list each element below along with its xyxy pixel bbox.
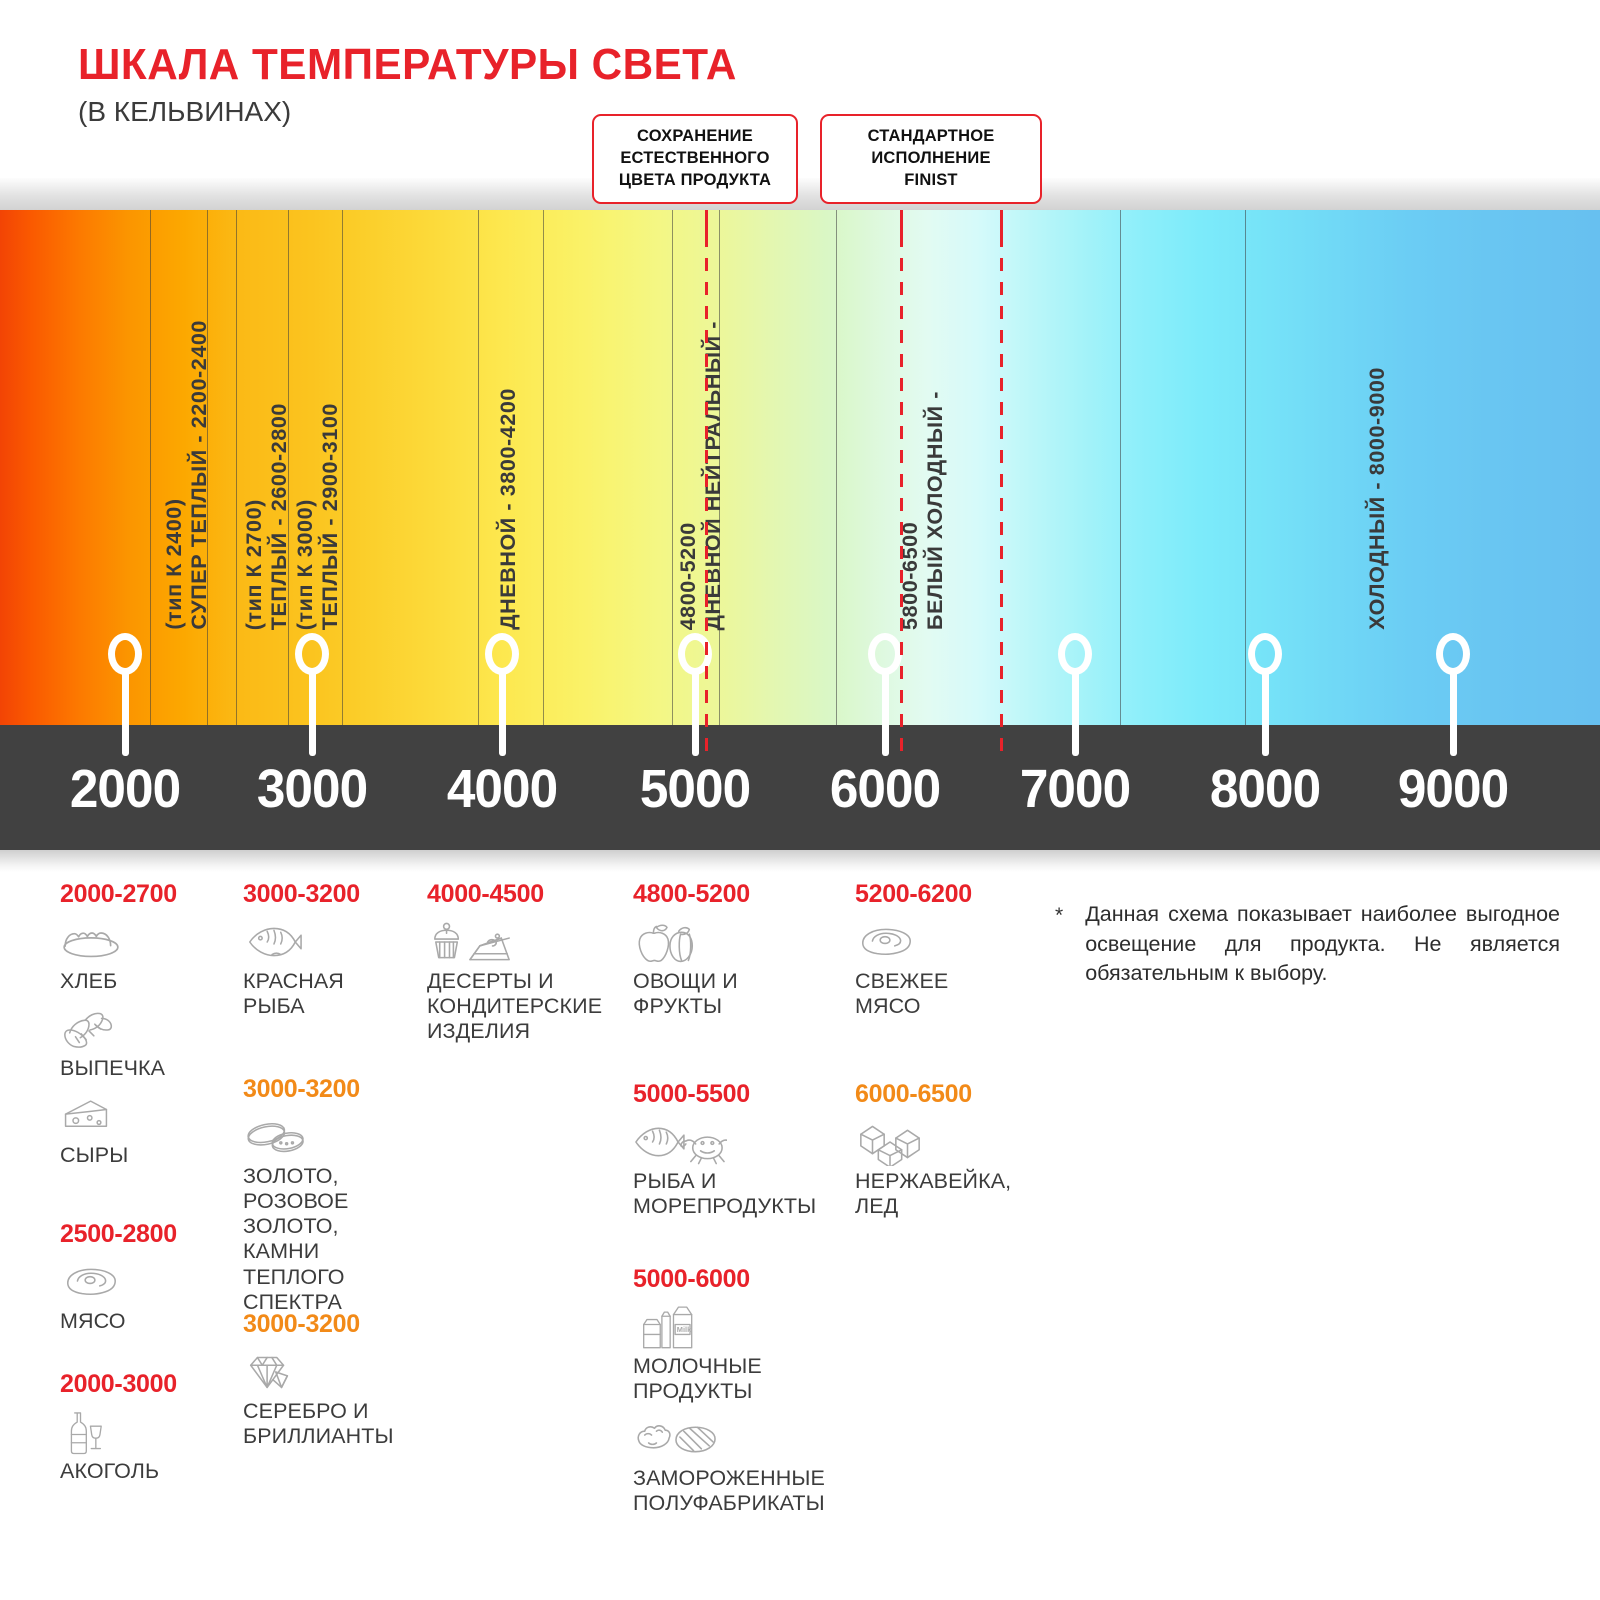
pin-stem: [1262, 672, 1269, 756]
legend-item-caption: СЫРЫ: [60, 1143, 235, 1168]
legend-item: ВЫПЕЧКА: [60, 1005, 235, 1081]
legend-item: ЗОЛОТО,РОЗОВОЕ ЗОЛОТО,КАМНИ ТЕПЛОГОСПЕКТ…: [243, 1113, 423, 1315]
top-shelf: [0, 178, 1600, 210]
legend-range-label: 6000-6500: [855, 1080, 1030, 1109]
divider-line: [1245, 210, 1246, 725]
pin-stem: [309, 672, 316, 756]
scale-pin-marker: [1058, 633, 1092, 756]
page-subtitle: (В КЕЛЬВИНАХ): [78, 96, 291, 128]
legend-item: АКОГОЛЬ: [60, 1408, 235, 1484]
zone-label-sub: (тип К 2700): [242, 403, 267, 630]
pin-ring: [108, 633, 142, 675]
legend-item: СЕРЕБРО ИБРИЛЛИАНТЫ: [243, 1348, 423, 1449]
zone-label-name: БЕЛЫЙ ХОЛОДНЫЙ -: [923, 391, 948, 630]
kelvin-scale-strip: [0, 725, 1600, 850]
callout-line: FINIST: [836, 170, 1026, 192]
scale-tick-6000: 6000: [830, 758, 940, 820]
legend-range-label: 3000-3200: [243, 1075, 423, 1104]
zone-label: СУПЕР ТЕПЛЫЙ - 2200-2400(тип К 2400): [162, 320, 212, 630]
legend-group: 6000-6500НЕРЖАВЕЙКА,ЛЕД: [855, 1080, 1030, 1230]
divider-line: [150, 210, 151, 725]
divider-line: [478, 210, 479, 725]
scale-tick-5000: 5000: [640, 758, 750, 820]
zone-label: ТЕПЛЫЙ - 2900-3100(тип К 3000): [293, 403, 343, 630]
fish-icon: [243, 918, 423, 966]
cheese-icon: [60, 1092, 235, 1140]
scale-tick-4000: 4000: [447, 758, 557, 820]
legend-group: 3000-3200КРАСНАЯРЫБА: [243, 880, 423, 1030]
divider-line: [1120, 210, 1121, 725]
legend-item-caption: ОВОЩИ ИФРУКТЫ: [633, 969, 848, 1019]
zone-label: ДНЕВНОЙ НЕЙТРАЛЬНЫЙ -4800-5200: [676, 321, 726, 630]
legend-group: 5000-5500РЫБА ИМОРЕПРОДУКТЫ: [633, 1080, 848, 1230]
zone-label: БЕЛЫЙ ХОЛОДНЫЙ -5800-6500: [898, 391, 948, 630]
product-legend: 2000-2700ХЛЕБВЫПЕЧКАСЫРЫ2500-2800МЯСО200…: [0, 880, 1600, 1600]
scale-pin-marker: [485, 633, 519, 756]
callout-line: СОХРАНЕНИЕ: [608, 126, 782, 148]
legend-item-caption: ВЫПЕЧКА: [60, 1056, 235, 1081]
page-title: ШКАЛА ТЕМПЕРАТУРЫ СВЕТА: [78, 40, 737, 90]
divider-line: [543, 210, 544, 725]
gradient-fill: [0, 210, 1600, 725]
legend-group: 4000-4500ДЕСЕРТЫ ИКОНДИТЕРСКИЕИЗДЕЛИЯ: [427, 880, 622, 1055]
legend-item-caption: СВЕЖЕЕМЯСО: [855, 969, 1030, 1019]
legend-item: MilkМОЛОЧНЫЕ ПРОДУКТЫ: [633, 1303, 848, 1404]
zone-label: ХОЛОДНЫЙ - 8000-9000: [1365, 367, 1390, 630]
legend-item-caption: АКОГОЛЬ: [60, 1459, 235, 1484]
callout-line: ИСПОЛНЕНИЕ: [836, 148, 1026, 170]
legend-item: ХЛЕБ: [60, 918, 235, 994]
legend-group: 4800-5200ОВОЩИ ИФРУКТЫ: [633, 880, 848, 1030]
zone-label-name: ХОЛОДНЫЙ - 8000-9000: [1365, 367, 1390, 630]
legend-item: СЫРЫ: [60, 1092, 235, 1168]
fresh-meat-icon: [855, 918, 1030, 966]
legend-item: КРАСНАЯРЫБА: [243, 918, 423, 1019]
legend-range-label: 2500-2800: [60, 1220, 235, 1249]
zone-label-name: СУПЕР ТЕПЛЫЙ - 2200-2400: [187, 320, 212, 630]
callout-natural-color: СОХРАНЕНИЕЕСТЕСТВЕННОГОЦВЕТА ПРОДУКТА: [592, 114, 798, 204]
legend-item-caption: ДЕСЕРТЫ ИКОНДИТЕРСКИЕИЗДЕЛИЯ: [427, 969, 622, 1044]
legend-range-label: 5000-6000: [633, 1265, 848, 1294]
zone-label: ДНЕВНОЙ - 3800-4200: [496, 388, 521, 630]
zone-label-sub: (тип К 3000): [293, 403, 318, 630]
pin-stem: [499, 672, 506, 756]
dashed-marker-line: [1000, 210, 1003, 757]
legend-range-label: 2000-3000: [60, 1370, 235, 1399]
legend-item-caption: МОЛОЧНЫЕ ПРОДУКТЫ: [633, 1354, 848, 1404]
legend-column: 5200-6200СВЕЖЕЕМЯСО6000-6500НЕРЖАВЕЙКА,Л…: [855, 880, 1030, 1580]
legend-range-label: 4800-5200: [633, 880, 848, 909]
legend-column: 3000-3200КРАСНАЯРЫБА3000-3200ЗОЛОТО,РОЗО…: [243, 880, 423, 1580]
zone-label-name: ТЕПЛЫЙ - 2600-2800: [267, 403, 292, 630]
scale-tick-3000: 3000: [257, 758, 367, 820]
pin-ring: [485, 633, 519, 675]
milk-carton-icon: Milk: [633, 1303, 848, 1351]
divider-line: [836, 210, 837, 725]
legend-item-caption: НЕРЖАВЕЙКА,ЛЕД: [855, 1169, 1030, 1219]
zone-label-name: ДНЕВНОЙ - 3800-4200: [496, 388, 521, 630]
legend-group: 5000-6000MilkМОЛОЧНЫЕ ПРОДУКТЫЗАМОРОЖЕНН…: [633, 1265, 848, 1528]
frozen-food-icon: [633, 1415, 848, 1463]
rings-icon: [243, 1113, 423, 1161]
pin-stem: [1072, 672, 1079, 756]
bread-icon: [60, 918, 235, 966]
croissant-icon: [60, 1005, 235, 1053]
legend-group: 3000-3200ЗОЛОТО,РОЗОВОЕ ЗОЛОТО,КАМНИ ТЕП…: [243, 1075, 423, 1326]
legend-range-label: 2000-2700: [60, 880, 235, 909]
legend-column: 2000-2700ХЛЕБВЫПЕЧКАСЫРЫ2500-2800МЯСО200…: [60, 880, 235, 1580]
legend-range-label: 5200-6200: [855, 880, 1030, 909]
divider-line: [236, 210, 237, 725]
zone-label-sub: 4800-5200: [676, 321, 701, 630]
legend-column: 4800-5200ОВОЩИ ИФРУКТЫ5000-5500РЫБА ИМОР…: [633, 880, 848, 1580]
legend-item: ДЕСЕРТЫ ИКОНДИТЕРСКИЕИЗДЕЛИЯ: [427, 918, 622, 1044]
scale-shadow: [0, 850, 1600, 872]
legend-group: 2500-2800МЯСО: [60, 1220, 235, 1345]
legend-column: 4000-4500ДЕСЕРТЫ ИКОНДИТЕРСКИЕИЗДЕЛИЯ: [427, 880, 622, 1580]
scale-pin-marker: [108, 633, 142, 756]
pin-ring: [1248, 633, 1282, 675]
fish-crab-icon: [633, 1118, 848, 1166]
legend-group: 3000-3200СЕРЕБРО ИБРИЛЛИАНТЫ: [243, 1310, 423, 1460]
legend-item-caption: СЕРЕБРО ИБРИЛЛИАНТЫ: [243, 1399, 423, 1449]
callout-line: СТАНДАРТНОЕ: [836, 126, 1026, 148]
legend-group: 2000-2700ХЛЕБВЫПЕЧКАСЫРЫ: [60, 880, 235, 1179]
temperature-gradient-bar: СУПЕР ТЕПЛЫЙ - 2200-2400(тип К 2400)ТЕПЛ…: [0, 210, 1600, 725]
pin-stem: [122, 672, 129, 756]
legend-item: ОВОЩИ ИФРУКТЫ: [633, 918, 848, 1019]
zone-label-sub: (тип К 2400): [162, 320, 187, 630]
scale-tick-8000: 8000: [1210, 758, 1320, 820]
legend-item: СВЕЖЕЕМЯСО: [855, 918, 1030, 1019]
scale-pin-marker: [1248, 633, 1282, 756]
scale-tick-9000: 9000: [1398, 758, 1508, 820]
scale-pin-marker: [868, 633, 902, 756]
legend-group: 5200-6200СВЕЖЕЕМЯСО: [855, 880, 1030, 1030]
dashed-marker-line: [900, 210, 903, 757]
callout-line: ЕСТЕСТВЕННОГО: [608, 148, 782, 170]
scale-pin-marker: [295, 633, 329, 756]
pin-stem: [1450, 672, 1457, 756]
pin-ring: [868, 633, 902, 675]
steak-icon: [60, 1258, 235, 1306]
legend-range-label: 3000-3200: [243, 880, 423, 909]
callout-line: ЦВЕТА ПРОДУКТА: [608, 170, 782, 192]
legend-range-label: 5000-5500: [633, 1080, 848, 1109]
legend-item-caption: ЗОЛОТО,РОЗОВОЕ ЗОЛОТО,КАМНИ ТЕПЛОГОСПЕКТ…: [243, 1164, 423, 1315]
legend-range-label: 4000-4500: [427, 880, 622, 909]
scale-pin-marker: [1436, 633, 1470, 756]
scale-tick-7000: 7000: [1020, 758, 1130, 820]
dashed-marker-line: [705, 210, 708, 757]
legend-item: НЕРЖАВЕЙКА,ЛЕД: [855, 1118, 1030, 1219]
bottle-glass-icon: [60, 1408, 235, 1456]
scale-tick-2000: 2000: [70, 758, 180, 820]
pin-ring: [1436, 633, 1470, 675]
diamond-icon: [243, 1348, 423, 1396]
ice-cubes-icon: [855, 1118, 1030, 1166]
pin-ring: [295, 633, 329, 675]
divider-line: [672, 210, 673, 725]
legend-group: 2000-3000АКОГОЛЬ: [60, 1370, 235, 1495]
legend-item-caption: КРАСНАЯРЫБА: [243, 969, 423, 1019]
legend-item: РЫБА ИМОРЕПРОДУКТЫ: [633, 1118, 848, 1219]
apple-pepper-icon: [633, 918, 848, 966]
pin-stem: [882, 672, 889, 756]
legend-item: МЯСО: [60, 1258, 235, 1334]
legend-item-caption: МЯСО: [60, 1309, 235, 1334]
legend-item-caption: ХЛЕБ: [60, 969, 235, 994]
svg-text:Milk: Milk: [677, 1325, 692, 1334]
zone-label: ТЕПЛЫЙ - 2600-2800(тип К 2700): [242, 403, 292, 630]
zone-label-name: ТЕПЛЫЙ - 2900-3100: [318, 403, 343, 630]
legend-item-caption: РЫБА ИМОРЕПРОДУКТЫ: [633, 1169, 848, 1219]
pin-stem: [692, 672, 699, 756]
pin-ring: [1058, 633, 1092, 675]
callout-finist-standard: СТАНДАРТНОЕИСПОЛНЕНИЕFINIST: [820, 114, 1042, 204]
legend-item: ЗАМОРОЖЕННЫЕПОЛУФАБРИКАТЫ: [633, 1415, 848, 1516]
cupcake-cake-icon: [427, 918, 622, 966]
infographic-root: ШКАЛА ТЕМПЕРАТУРЫ СВЕТА (В КЕЛЬВИНАХ) СО…: [0, 0, 1600, 1600]
legend-range-label: 3000-3200: [243, 1310, 423, 1339]
legend-item-caption: ЗАМОРОЖЕННЫЕПОЛУФАБРИКАТЫ: [633, 1466, 848, 1516]
